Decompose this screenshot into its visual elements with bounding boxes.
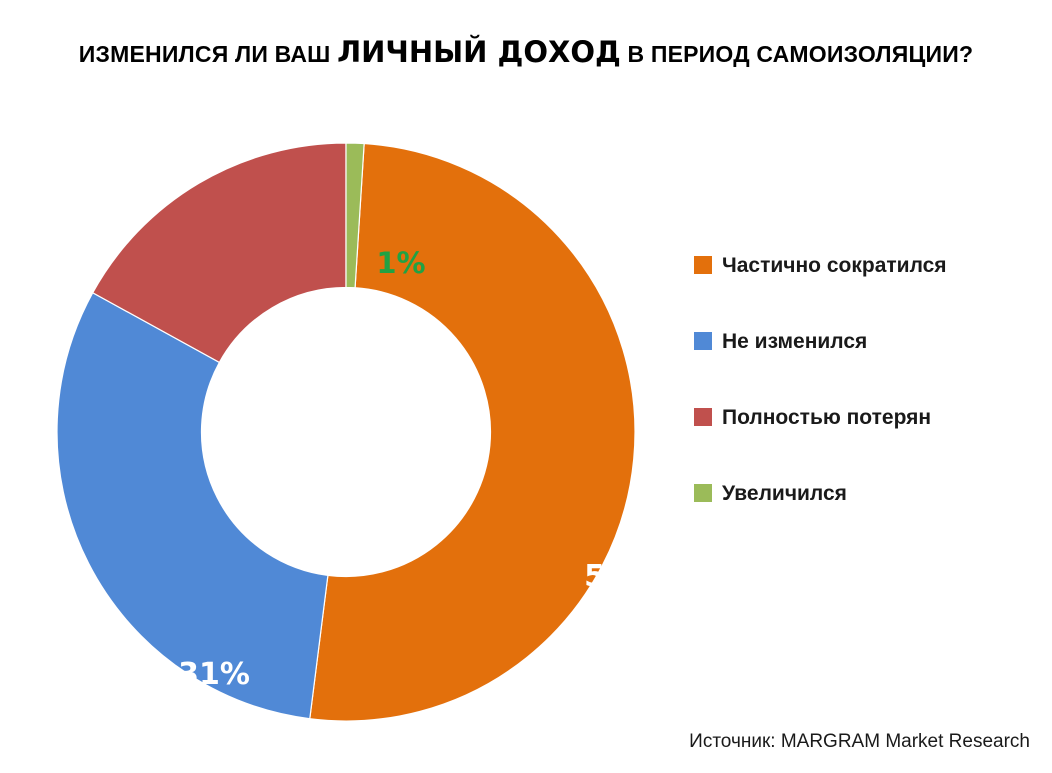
slice-value-label-fully-lost: 17%	[234, 372, 330, 402]
source-note: Источник: MARGRAM Market Research	[689, 732, 1030, 751]
slice-value-label-increased: 1%	[353, 249, 449, 278]
donut-slice-layer	[57, 143, 635, 721]
chart-title: ИЗМЕНИЛСЯ ЛИ ВАШ ЛИЧНЫЙ ДОХОД В ПЕРИОД С…	[0, 38, 1052, 67]
donut-slice[interactable]	[57, 293, 328, 719]
legend-item-label: Увеличился	[722, 483, 847, 504]
chart-page: ИЗМЕНИЛСЯ ЛИ ВАШ ЛИЧНЫЙ ДОХОД В ПЕРИОД С…	[0, 0, 1052, 773]
legend-item[interactable]: Частично сократился	[694, 252, 1024, 278]
legend-item-label: Полностью потерян	[722, 407, 931, 428]
legend-item[interactable]: Не изменился	[694, 328, 1024, 354]
chart-title-lead: ИЗМЕНИЛСЯ ЛИ ВАШ	[79, 41, 337, 67]
legend-item-label: Частично сократился	[722, 255, 947, 276]
legend-item-label: Не изменился	[722, 331, 867, 352]
slice-value-label-unchanged: 31%	[166, 660, 262, 690]
chart-title-emphasis: ЛИЧНЫЙ ДОХОД	[337, 35, 621, 69]
chart-title-tail: В ПЕРИОД САМОИЗОЛЯЦИИ?	[621, 41, 973, 67]
legend-swatch-icon	[694, 408, 712, 426]
legend-swatch-icon	[694, 484, 712, 502]
slice-value-label-partially-reduced: 51%	[572, 562, 668, 592]
chart-legend: Частично сократилсяНе изменилсяПолностью…	[694, 252, 1024, 506]
legend-swatch-icon	[694, 332, 712, 350]
legend-swatch-icon	[694, 256, 712, 274]
donut-chart: 51% 31% 17% 1%	[56, 142, 636, 722]
legend-item[interactable]: Увеличился	[694, 480, 1024, 506]
legend-item[interactable]: Полностью потерян	[694, 404, 1024, 430]
donut-svg	[56, 142, 636, 722]
